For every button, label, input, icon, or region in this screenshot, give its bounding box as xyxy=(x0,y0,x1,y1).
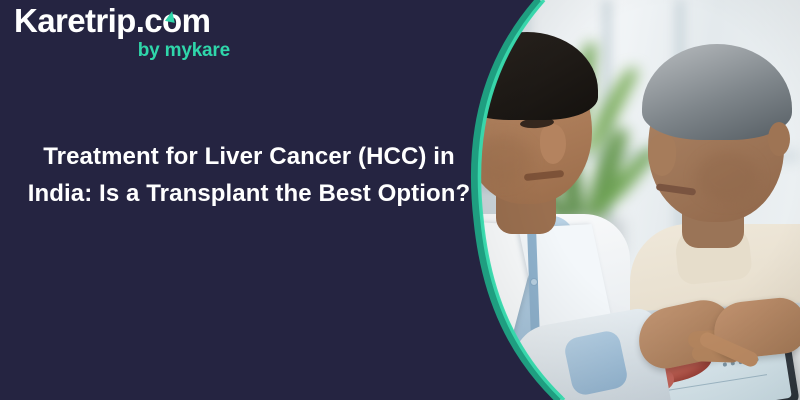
logo-tagline: by mykare xyxy=(14,40,244,62)
headline-line-2: India: Is a Transplant the Best Option? xyxy=(28,180,471,207)
photo-vignette xyxy=(470,0,800,400)
headline-line-1: Treatment for Liver Cancer (HCC) in xyxy=(43,143,455,170)
karetrip-article-banner: Karetrip.com by mykare Treatment for Liv… xyxy=(0,0,800,400)
photo-background xyxy=(470,0,800,400)
page-title: Treatment for Liver Cancer (HCC) in Indi… xyxy=(0,138,498,212)
logo-wordmark: Karetrip.com xyxy=(14,4,244,39)
brand-logo[interactable]: Karetrip.com by mykare xyxy=(14,4,244,62)
consultation-photo xyxy=(470,0,800,400)
